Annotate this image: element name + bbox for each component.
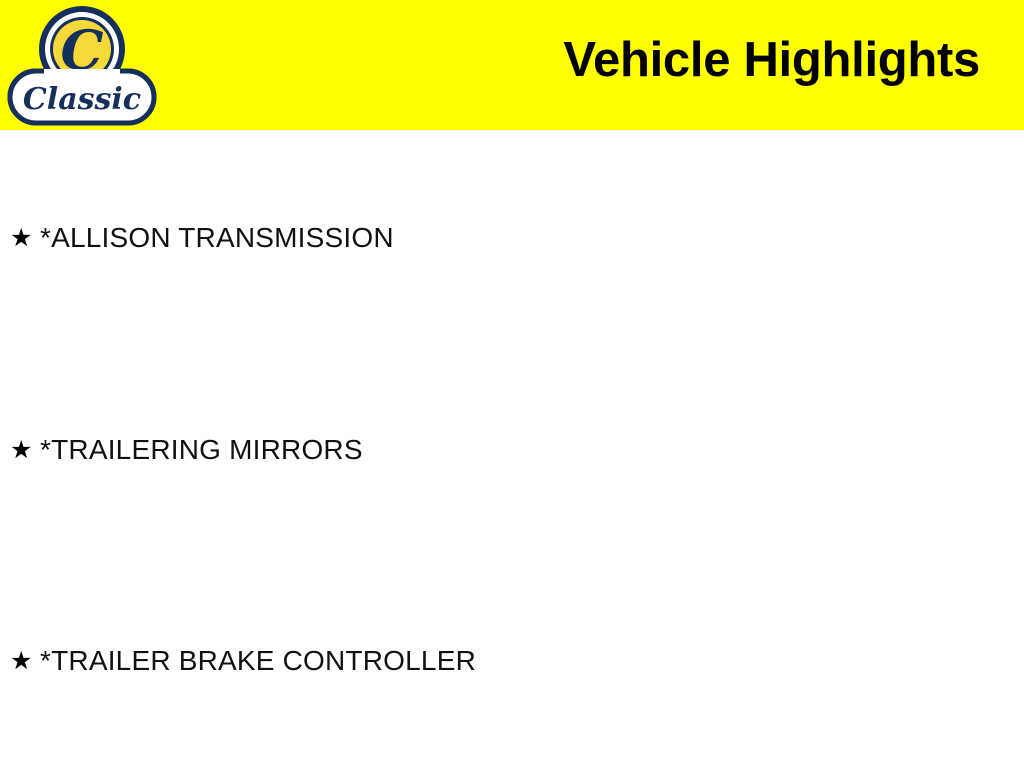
star-bullet-icon: ★ [10,226,40,251]
classic-wordmark: Classic [23,82,141,117]
list-item: ★ *TRAILERING MIRRORS [10,430,363,470]
list-item: ★ *TRAILER BRAKE CONTROLLER [10,641,476,681]
header-bar: C Classic Vehicle Highlights [0,0,1024,130]
highlight-label: *TRAILERING MIRRORS [40,436,363,464]
star-bullet-icon: ★ [10,438,40,463]
slide-canvas: C Classic Vehicle Highlights ★ *ALLISON … [0,0,1024,768]
list-item: ★ *ALLISON TRANSMISSION [10,218,394,258]
slide-body: ★ *ALLISON TRANSMISSION ★ *TRAILERING MI… [0,130,1024,768]
highlight-label: *ALLISON TRANSMISSION [40,224,394,252]
highlight-label: *TRAILER BRAKE CONTROLLER [40,647,476,675]
classic-logo-icon: C Classic [6,3,158,127]
page-title: Vehicle Highlights [563,36,980,85]
star-bullet-icon: ★ [10,649,40,674]
classic-brand-logo: C Classic [6,3,158,127]
